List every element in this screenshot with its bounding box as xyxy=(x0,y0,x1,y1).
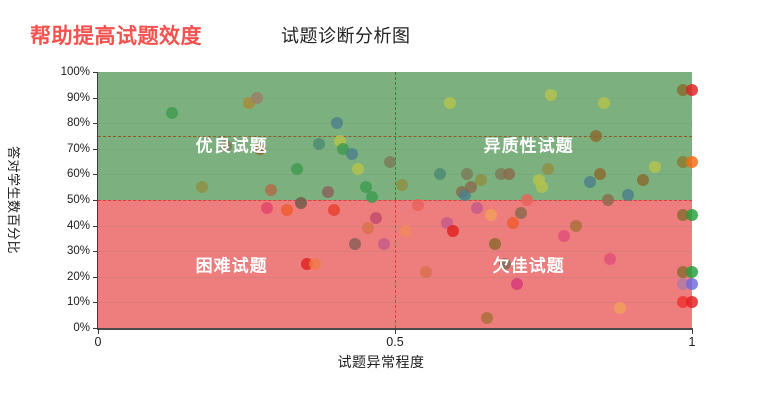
data-point xyxy=(331,117,343,129)
x-tick-label: 1 xyxy=(689,335,696,349)
y-tick-label: 10% xyxy=(50,296,90,308)
y-tick-mark xyxy=(93,123,98,124)
y-tick-label: 90% xyxy=(50,92,90,104)
x-tick-mark xyxy=(98,329,99,334)
data-point xyxy=(584,176,596,188)
data-point xyxy=(196,181,208,193)
data-point xyxy=(370,212,382,224)
data-point xyxy=(295,197,307,209)
x-tick-mark xyxy=(395,329,396,334)
data-point xyxy=(352,163,364,175)
data-point xyxy=(471,202,483,214)
data-point xyxy=(614,302,626,314)
data-point xyxy=(166,107,178,119)
y-tick-mark xyxy=(93,200,98,201)
refline-x05-lower xyxy=(395,200,396,328)
data-point xyxy=(313,138,325,150)
y-tick-mark xyxy=(93,251,98,252)
page-title-sub: 试题诊断分析图 xyxy=(281,22,411,48)
quadrant-label-bottom-left: 困难试题 xyxy=(196,252,268,277)
y-tick-mark xyxy=(93,226,98,227)
data-point xyxy=(461,168,473,180)
data-point xyxy=(309,258,321,270)
data-point xyxy=(637,174,649,186)
data-point xyxy=(362,222,374,234)
data-point xyxy=(686,156,698,168)
y-tick-mark xyxy=(93,302,98,303)
data-point xyxy=(378,238,390,250)
y-tick-label: 70% xyxy=(50,143,90,155)
x-tick-label: 0 xyxy=(95,335,102,349)
data-point xyxy=(686,296,698,308)
page-title-main: 帮助提高试题效度 xyxy=(30,20,202,50)
data-point xyxy=(536,181,548,193)
data-point xyxy=(328,204,340,216)
data-point xyxy=(489,238,501,250)
data-point xyxy=(542,163,554,175)
data-point xyxy=(558,230,570,242)
y-tick-label: 20% xyxy=(50,271,90,283)
y-axis-label: 答对学生数百分比 xyxy=(4,72,22,328)
y-tick-label: 50% xyxy=(50,194,90,206)
data-point xyxy=(444,97,456,109)
data-point xyxy=(412,199,424,211)
data-point xyxy=(346,148,358,160)
chart-header: 帮助提高试题效度 试题诊断分析图 xyxy=(0,0,762,62)
y-tick-label: 0% xyxy=(50,322,90,334)
data-point xyxy=(481,312,493,324)
data-point xyxy=(594,168,606,180)
data-point xyxy=(251,92,263,104)
data-point xyxy=(545,89,557,101)
data-point xyxy=(384,156,396,168)
x-tick-label: 0.5 xyxy=(386,335,403,349)
data-point xyxy=(590,130,602,142)
chart-page: 帮助提高试题效度 试题诊断分析图 答对学生数百分比 优良试题异质性试题困难试题欠… xyxy=(0,0,762,402)
data-point xyxy=(396,179,408,191)
quadrant-label-top-right: 异质性试题 xyxy=(484,131,574,156)
data-point xyxy=(622,189,634,201)
data-point xyxy=(465,181,477,193)
data-point xyxy=(475,174,487,186)
data-point xyxy=(507,217,519,229)
scatter-plot: 优良试题异质性试题困难试题欠佳试题 0%10%20%30%40%50%60%70… xyxy=(98,72,692,328)
y-tick-mark xyxy=(93,149,98,150)
y-tick-mark xyxy=(93,277,98,278)
data-point xyxy=(265,184,277,196)
x-tick-mark xyxy=(692,329,693,334)
data-point xyxy=(503,168,515,180)
y-tick-label: 80% xyxy=(50,117,90,129)
y-tick-label: 100% xyxy=(50,66,90,78)
data-point xyxy=(447,225,459,237)
x-axis-label: 试题异常程度 xyxy=(0,352,762,372)
y-tick-mark xyxy=(93,174,98,175)
data-point xyxy=(686,278,698,290)
data-point xyxy=(261,202,273,214)
data-point xyxy=(420,266,432,278)
y-tick-mark xyxy=(93,72,98,73)
data-point xyxy=(511,278,523,290)
data-point xyxy=(602,194,614,206)
data-point xyxy=(649,161,661,173)
data-point xyxy=(686,84,698,96)
y-tick-label: 30% xyxy=(50,245,90,257)
plot-canvas: 优良试题异质性试题困难试题欠佳试题 0%10%20%30%40%50%60%70… xyxy=(98,72,692,328)
y-tick-label: 40% xyxy=(50,220,90,232)
data-point xyxy=(434,168,446,180)
data-point xyxy=(400,225,412,237)
data-point xyxy=(515,207,527,219)
data-point xyxy=(349,238,361,250)
data-point xyxy=(291,163,303,175)
data-point xyxy=(598,97,610,109)
data-point xyxy=(570,220,582,232)
data-point xyxy=(281,204,293,216)
data-point xyxy=(686,266,698,278)
quadrant-label-top-left: 优良试题 xyxy=(196,131,268,156)
data-point xyxy=(686,209,698,221)
data-point xyxy=(604,253,616,265)
quadrant-label-bottom-right: 欠佳试题 xyxy=(493,252,565,277)
y-tick-mark xyxy=(93,98,98,99)
y-tick-label: 60% xyxy=(50,168,90,180)
data-point xyxy=(366,191,378,203)
data-point xyxy=(485,209,497,221)
data-point xyxy=(521,194,533,206)
data-point xyxy=(322,186,334,198)
